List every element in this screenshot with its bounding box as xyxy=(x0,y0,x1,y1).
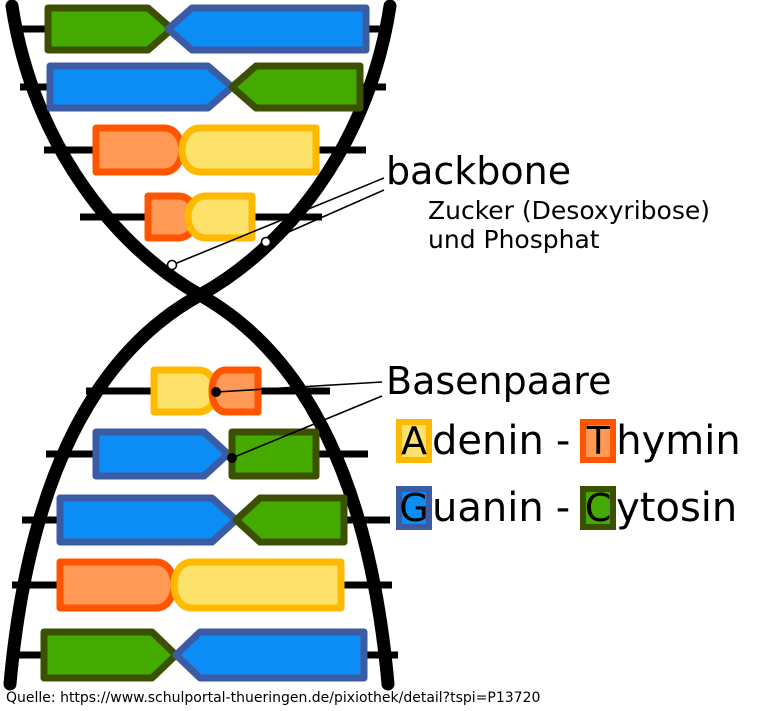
dna-helix-diagram: backbone Zucker (Desoxyribose) und Phosp… xyxy=(0,0,777,711)
base-block-adenin xyxy=(154,370,216,412)
legend-word-cytosin: ytosin xyxy=(616,485,739,531)
base-block-guanin xyxy=(60,498,236,542)
base-pair-row-4 xyxy=(148,196,252,238)
base-pair-row-7 xyxy=(60,498,344,542)
legend-word-thymin: hymin xyxy=(616,418,742,464)
base-pair-row-1 xyxy=(48,8,366,50)
backbone-subtitle-line-1: Zucker (Desoxyribose) xyxy=(428,196,710,225)
base-chip-thymin: T xyxy=(580,419,616,463)
legend-separator-at: - xyxy=(546,418,580,464)
legend-word-adenin: denin xyxy=(432,418,546,464)
base-block-adenin xyxy=(182,128,316,172)
source-attribution: Quelle: https://www.schulportal-thuering… xyxy=(6,690,540,706)
base-block-guanin xyxy=(50,66,232,108)
basenpaare-label-title: Basenpaare xyxy=(386,362,611,400)
base-pair-row-3 xyxy=(96,128,316,172)
legend-separator-gc: - xyxy=(546,485,580,531)
base-block-adenin xyxy=(188,196,252,238)
leader-marker-backbone-2 xyxy=(262,238,271,247)
base-block-cytosin xyxy=(44,632,176,678)
base-block-cytosin xyxy=(236,498,344,542)
helix-illustration xyxy=(0,0,777,711)
base-block-cytosin xyxy=(48,8,172,50)
base-block-thymin xyxy=(60,562,174,608)
leader-marker-basenpaare-1 xyxy=(211,387,221,397)
legend-row-adenin-thymin: A denin - T hymin xyxy=(396,418,743,464)
base-chip-cytosin: C xyxy=(580,486,616,530)
base-block-guanin xyxy=(96,432,228,476)
base-block-guanin xyxy=(176,632,364,678)
legend-word-guanin: uanin xyxy=(432,485,546,531)
backbone-label-title: backbone xyxy=(386,152,571,190)
base-pair-row-8 xyxy=(60,562,341,608)
leader-marker-basenpaare-2 xyxy=(227,453,237,463)
base-block-adenin xyxy=(174,562,341,608)
base-block-cytosin xyxy=(232,66,360,108)
base-block-cytosin xyxy=(232,432,316,476)
base-chip-adenin: A xyxy=(396,419,432,463)
backbone-label-subtitle: Zucker (Desoxyribose) und Phosphat xyxy=(428,196,710,254)
backbone-subtitle-line-2: und Phosphat xyxy=(428,225,710,254)
legend-row-guanin-cytosin: G uanin - C ytosin xyxy=(396,485,739,531)
base-pair-row-2 xyxy=(50,66,360,108)
base-pair-row-9 xyxy=(44,632,364,678)
base-chip-guanin: G xyxy=(396,486,432,530)
base-block-thymin xyxy=(96,128,182,172)
leader-marker-backbone-1 xyxy=(168,261,177,270)
base-pair-row-6 xyxy=(96,432,316,476)
base-block-guanin xyxy=(168,8,366,50)
